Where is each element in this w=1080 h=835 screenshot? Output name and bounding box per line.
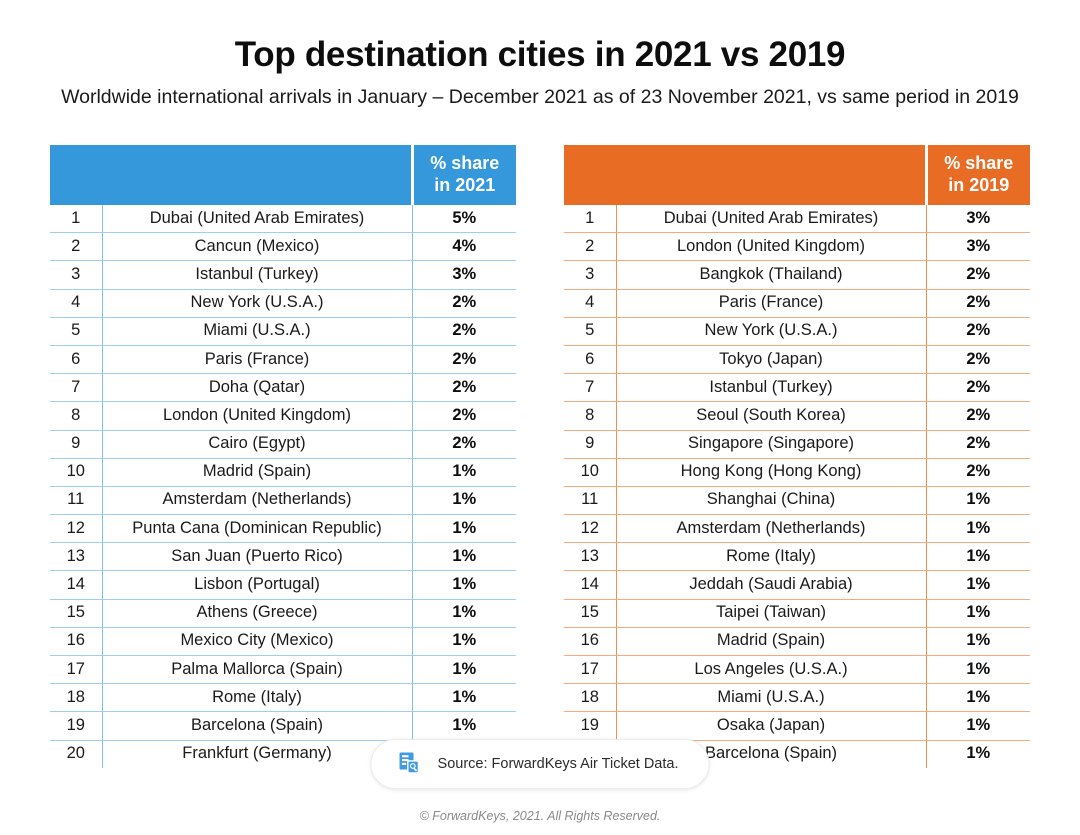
table-row: 17Los Angeles (U.S.A.)1% <box>564 656 1030 684</box>
cell-city: Singapore (Singapore) <box>616 430 926 458</box>
cell-rank: 13 <box>50 543 102 571</box>
cell-rank: 16 <box>564 627 616 655</box>
table-row: 18Rome (Italy)1% <box>50 684 516 712</box>
cell-city: Frankfurt (Germany) <box>102 740 412 768</box>
table-row: 8London (United Kingdom)2% <box>50 402 516 430</box>
cell-share: 2% <box>412 430 516 458</box>
table-2021-wrapper: % share in 2021 1Dubai (United Arab Emir… <box>50 145 516 768</box>
cell-rank: 10 <box>564 458 616 486</box>
cell-city: Madrid (Spain) <box>102 458 412 486</box>
cell-rank: 4 <box>564 289 616 317</box>
table-2019-wrapper: % share in 2019 1Dubai (United Arab Emir… <box>564 145 1030 768</box>
cell-city: Mexico City (Mexico) <box>102 627 412 655</box>
table-row: 5New York (U.S.A.)2% <box>564 317 1030 345</box>
cell-rank: 17 <box>564 656 616 684</box>
cell-rank: 10 <box>50 458 102 486</box>
table-row: 7Istanbul (Turkey)2% <box>564 374 1030 402</box>
cell-share: 2% <box>926 430 1030 458</box>
table-row: 5Miami (U.S.A.)2% <box>50 317 516 345</box>
cell-share: 2% <box>926 317 1030 345</box>
cell-city: Rome (Italy) <box>616 543 926 571</box>
header-row: % share in 2019 <box>564 145 1030 205</box>
table-2019: % share in 2019 1Dubai (United Arab Emir… <box>564 145 1030 768</box>
table-row: 18Miami (U.S.A.)1% <box>564 684 1030 712</box>
cell-city: Seoul (South Korea) <box>616 402 926 430</box>
cell-city: Jeddah (Saudi Arabia) <box>616 571 926 599</box>
table-row: 10Hong Kong (Hong Kong)2% <box>564 458 1030 486</box>
cell-rank: 17 <box>50 656 102 684</box>
cell-share: 2% <box>926 374 1030 402</box>
cell-rank: 18 <box>50 684 102 712</box>
cell-city: Shanghai (China) <box>616 486 926 514</box>
cell-share: 2% <box>926 458 1030 486</box>
cell-rank: 14 <box>50 571 102 599</box>
table-row: 12Punta Cana (Dominican Republic)1% <box>50 515 516 543</box>
cell-rank: 19 <box>564 712 616 740</box>
cell-share: 1% <box>926 627 1030 655</box>
cell-rank: 7 <box>50 374 102 402</box>
cell-city: Miami (U.S.A.) <box>102 317 412 345</box>
cell-share: 1% <box>412 543 516 571</box>
cell-rank: 4 <box>50 289 102 317</box>
cell-rank: 12 <box>50 515 102 543</box>
header-row: % share in 2021 <box>50 145 516 205</box>
table-row: 2London (United Kingdom)3% <box>564 233 1030 261</box>
table-row: 9Cairo (Egypt)2% <box>50 430 516 458</box>
cell-share: 3% <box>412 261 516 289</box>
cell-share: 1% <box>412 486 516 514</box>
cell-rank: 1 <box>50 205 102 233</box>
cell-city: Barcelona (Spain) <box>102 712 412 740</box>
cell-rank: 7 <box>564 374 616 402</box>
cell-rank: 6 <box>564 345 616 373</box>
cell-city: Madrid (Spain) <box>616 627 926 655</box>
table-row: 19Barcelona (Spain)1% <box>50 712 516 740</box>
cell-share: 1% <box>412 458 516 486</box>
cell-share: 2% <box>412 317 516 345</box>
cell-rank: 2 <box>50 233 102 261</box>
table-row: 12Amsterdam (Netherlands)1% <box>564 515 1030 543</box>
cell-city: Lisbon (Portugal) <box>102 571 412 599</box>
cell-city: Miami (U.S.A.) <box>616 684 926 712</box>
table-row: 17Palma Mallorca (Spain)1% <box>50 656 516 684</box>
cell-rank: 9 <box>50 430 102 458</box>
table-row: 7Doha (Qatar)2% <box>50 374 516 402</box>
table-row: 8Seoul (South Korea)2% <box>564 402 1030 430</box>
cell-share: 1% <box>412 656 516 684</box>
table-row: 11Shanghai (China)1% <box>564 486 1030 514</box>
table-row: 10Madrid (Spain)1% <box>50 458 516 486</box>
header-blank-cell <box>50 145 412 205</box>
cell-city: Cairo (Egypt) <box>102 430 412 458</box>
page-title: Top destination cities in 2021 vs 2019 <box>0 0 1080 75</box>
cell-share: 1% <box>926 656 1030 684</box>
header-share-line1: % share <box>414 153 517 175</box>
table-row: 3Bangkok (Thailand)2% <box>564 261 1030 289</box>
cell-share: 2% <box>926 289 1030 317</box>
header-blank-cell <box>564 145 926 205</box>
cell-share: 2% <box>926 261 1030 289</box>
table-row: 11Amsterdam (Netherlands)1% <box>50 486 516 514</box>
cell-rank: 2 <box>564 233 616 261</box>
table-row: 19Osaka (Japan)1% <box>564 712 1030 740</box>
cell-city: Hong Kong (Hong Kong) <box>616 458 926 486</box>
table-2021-body: 1Dubai (United Arab Emirates)5%2Cancun (… <box>50 205 516 768</box>
cell-share: 1% <box>412 599 516 627</box>
header-share-2021: % share in 2021 <box>412 145 516 205</box>
table-2019-body: 1Dubai (United Arab Emirates)3%2London (… <box>564 205 1030 768</box>
table-row: 15Taipei (Taiwan)1% <box>564 599 1030 627</box>
cell-share: 1% <box>412 712 516 740</box>
cell-share: 2% <box>412 402 516 430</box>
table-row: 1Dubai (United Arab Emirates)3% <box>564 205 1030 233</box>
cell-rank: 6 <box>50 345 102 373</box>
cell-share: 1% <box>926 515 1030 543</box>
table-row: 16Madrid (Spain)1% <box>564 627 1030 655</box>
cell-share: 1% <box>412 515 516 543</box>
cell-city: New York (U.S.A.) <box>102 289 412 317</box>
cell-share: 1% <box>926 712 1030 740</box>
table-row: 14Jeddah (Saudi Arabia)1% <box>564 571 1030 599</box>
cell-city: Punta Cana (Dominican Republic) <box>102 515 412 543</box>
cell-city: Amsterdam (Netherlands) <box>102 486 412 514</box>
table-row: 15Athens (Greece)1% <box>50 599 516 627</box>
cell-rank: 12 <box>564 515 616 543</box>
cell-share: 5% <box>412 205 516 233</box>
cell-share: 1% <box>926 740 1030 768</box>
table-2019-header: % share in 2019 <box>564 145 1030 205</box>
table-row: 6Paris (France)2% <box>50 345 516 373</box>
cell-rank: 15 <box>50 599 102 627</box>
cell-rank: 9 <box>564 430 616 458</box>
table-row: 4Paris (France)2% <box>564 289 1030 317</box>
cell-rank: 1 <box>564 205 616 233</box>
cell-rank: 3 <box>50 261 102 289</box>
cell-rank: 13 <box>564 543 616 571</box>
cell-rank: 5 <box>50 317 102 345</box>
table-row: 13San Juan (Puerto Rico)1% <box>50 543 516 571</box>
cell-city: Bangkok (Thailand) <box>616 261 926 289</box>
tables-container: % share in 2021 1Dubai (United Arab Emir… <box>0 145 1080 768</box>
page-subtitle: Worldwide international arrivals in Janu… <box>0 75 1080 109</box>
header-share-line2: in 2019 <box>928 175 1031 197</box>
source-text: Source: ForwardKeys Air Ticket Data. <box>438 756 679 772</box>
cell-rank: 14 <box>564 571 616 599</box>
table-row: 13Rome (Italy)1% <box>564 543 1030 571</box>
cell-city: Osaka (Japan) <box>616 712 926 740</box>
table-row: 1Dubai (United Arab Emirates)5% <box>50 205 516 233</box>
cell-share: 1% <box>926 571 1030 599</box>
cell-rank: 15 <box>564 599 616 627</box>
table-row: 14Lisbon (Portugal)1% <box>50 571 516 599</box>
cell-city: Los Angeles (U.S.A.) <box>616 656 926 684</box>
cell-city: Paris (France) <box>616 289 926 317</box>
cell-share: 1% <box>926 599 1030 627</box>
cell-city: Rome (Italy) <box>102 684 412 712</box>
cell-rank: 19 <box>50 712 102 740</box>
cell-city: London (United Kingdom) <box>102 402 412 430</box>
table-2021: % share in 2021 1Dubai (United Arab Emir… <box>50 145 516 768</box>
cell-share: 1% <box>926 543 1030 571</box>
cell-city: Doha (Qatar) <box>102 374 412 402</box>
cell-rank: 18 <box>564 684 616 712</box>
table-row: 4New York (U.S.A.)2% <box>50 289 516 317</box>
cell-rank: 3 <box>564 261 616 289</box>
cell-share: 1% <box>412 627 516 655</box>
cell-rank: 8 <box>50 402 102 430</box>
cell-city: Istanbul (Turkey) <box>616 374 926 402</box>
cell-rank: 11 <box>50 486 102 514</box>
slide-root: Top destination cities in 2021 vs 2019 W… <box>0 0 1080 835</box>
cell-share: 3% <box>926 233 1030 261</box>
cell-city: San Juan (Puerto Rico) <box>102 543 412 571</box>
header-share-2019: % share in 2019 <box>926 145 1030 205</box>
cell-city: Dubai (United Arab Emirates) <box>102 205 412 233</box>
table-2021-header: % share in 2021 <box>50 145 516 205</box>
cell-city: Paris (France) <box>102 345 412 373</box>
cell-rank: 11 <box>564 486 616 514</box>
cell-share: 1% <box>926 486 1030 514</box>
cell-city: Palma Mallorca (Spain) <box>102 656 412 684</box>
cell-rank: 16 <box>50 627 102 655</box>
table-row: 9Singapore (Singapore)2% <box>564 430 1030 458</box>
cell-city: New York (U.S.A.) <box>616 317 926 345</box>
cell-share: 2% <box>412 345 516 373</box>
cell-share: 3% <box>926 205 1030 233</box>
cell-city: Dubai (United Arab Emirates) <box>616 205 926 233</box>
table-row: 2Cancun (Mexico)4% <box>50 233 516 261</box>
cell-city: Taipei (Taiwan) <box>616 599 926 627</box>
cell-share: 1% <box>412 684 516 712</box>
cell-rank: 20 <box>50 740 102 768</box>
cell-city: Tokyo (Japan) <box>616 345 926 373</box>
cell-share: 2% <box>412 374 516 402</box>
cell-city: Cancun (Mexico) <box>102 233 412 261</box>
table-row: 16Mexico City (Mexico)1% <box>50 627 516 655</box>
cell-share: 1% <box>926 684 1030 712</box>
cell-city: London (United Kingdom) <box>616 233 926 261</box>
table-row: 3Istanbul (Turkey)3% <box>50 261 516 289</box>
cell-city: Athens (Greece) <box>102 599 412 627</box>
copyright-text: © ForwardKeys, 2021. All Rights Reserved… <box>0 809 1080 823</box>
cell-share: 4% <box>412 233 516 261</box>
cell-share: 2% <box>412 289 516 317</box>
cell-city: Amsterdam (Netherlands) <box>616 515 926 543</box>
document-search-icon <box>398 751 424 777</box>
cell-share: 1% <box>412 571 516 599</box>
table-row: 6Tokyo (Japan)2% <box>564 345 1030 373</box>
source-badge: Source: ForwardKeys Air Ticket Data. <box>371 739 710 789</box>
cell-rank: 5 <box>564 317 616 345</box>
cell-rank: 8 <box>564 402 616 430</box>
cell-city: Istanbul (Turkey) <box>102 261 412 289</box>
header-share-line2: in 2021 <box>414 175 517 197</box>
header-share-line1: % share <box>928 153 1031 175</box>
cell-share: 2% <box>926 345 1030 373</box>
cell-share: 2% <box>926 402 1030 430</box>
